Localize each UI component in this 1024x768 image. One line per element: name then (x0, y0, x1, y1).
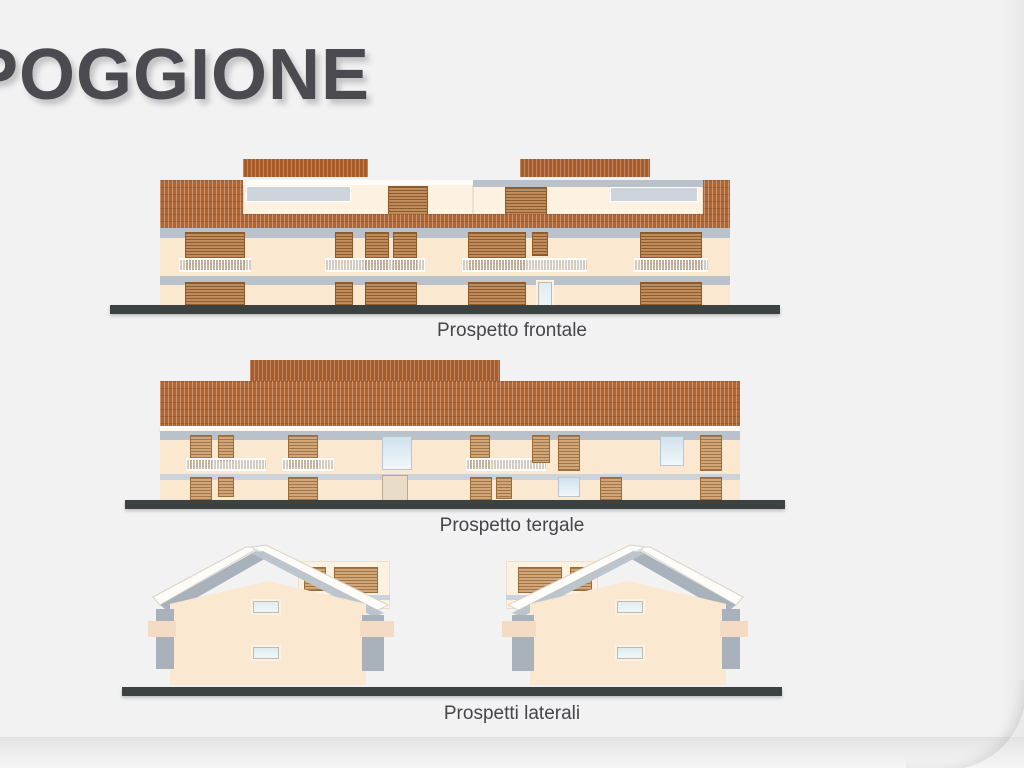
front-elevation-drawing (160, 150, 730, 308)
caption-side: Prospetti laterali (0, 703, 1024, 725)
front-penthouse-band-right (473, 180, 703, 187)
front-ground-line (110, 305, 780, 314)
presentation-slide: POGGIONE (0, 0, 1024, 768)
side-left-window-lower (253, 647, 279, 659)
caption-rear: Prospetto tergale (0, 515, 1024, 537)
rear-main-roof (160, 381, 740, 427)
side-right-band-right (502, 621, 536, 637)
rear-railing-f2-2 (282, 458, 334, 471)
rear-shutter-f2-6 (558, 435, 580, 471)
page-title: POGGIONE (0, 38, 370, 114)
rear-shutter-f1-5 (496, 477, 512, 499)
rear-window-f2-center (382, 436, 412, 470)
front-railing-f2-3 (462, 258, 587, 272)
front-railing-f2-2 (325, 258, 425, 272)
side-left-window-upper (253, 601, 279, 613)
elevation-front: Prospetto frontale (0, 150, 1024, 350)
rear-floor2-band (160, 431, 740, 440)
front-penthouse-window-left (246, 186, 351, 202)
rear-shutter-f1-2 (218, 477, 234, 497)
front-dormer-roof-left (243, 159, 368, 177)
front-roof-fascia (160, 214, 730, 229)
rear-railing-f2-1 (186, 458, 266, 471)
rear-entrance-door (382, 475, 408, 503)
elevation-side: Prospetti laterali (0, 535, 1024, 735)
front-penthouse-shutter-right (505, 187, 547, 217)
caption-front: Prospetto frontale (0, 320, 1024, 342)
side-left-band-left (148, 621, 176, 637)
side-elevation-left-drawing (148, 535, 418, 691)
front-shutter-f2-6 (532, 232, 548, 256)
side-right-shadow-left (722, 609, 740, 669)
side-left-shadow-left (156, 609, 174, 669)
side-left-band-right (360, 621, 394, 637)
side-right-band-left (720, 621, 748, 637)
front-penthouse-slab-left (243, 180, 473, 185)
page-bottom-band (0, 737, 1024, 768)
front-railing-f2-4 (634, 258, 708, 272)
rear-window-f1-1 (558, 477, 580, 497)
front-railing-f2-1 (179, 258, 251, 272)
side-ground-line (122, 687, 782, 696)
rear-window-f2-right (660, 436, 684, 466)
rear-ridge-block (250, 360, 500, 382)
rear-ground-line (125, 500, 785, 509)
rear-shutter-f2-5 (532, 435, 550, 463)
side-elevation-right-drawing (478, 535, 748, 691)
rear-elevation-drawing (160, 355, 740, 503)
front-dormer-roof-right (520, 159, 650, 177)
side-right-window-upper (617, 601, 643, 613)
elevation-rear: Prospetto tergale (0, 355, 1024, 550)
front-penthouse-window-right (610, 187, 698, 202)
front-shutter-f2-2 (335, 232, 353, 258)
side-right-window-lower (617, 647, 643, 659)
front-penthouse-shutter-left (388, 186, 428, 217)
rear-shutter-f2-7 (700, 435, 722, 471)
